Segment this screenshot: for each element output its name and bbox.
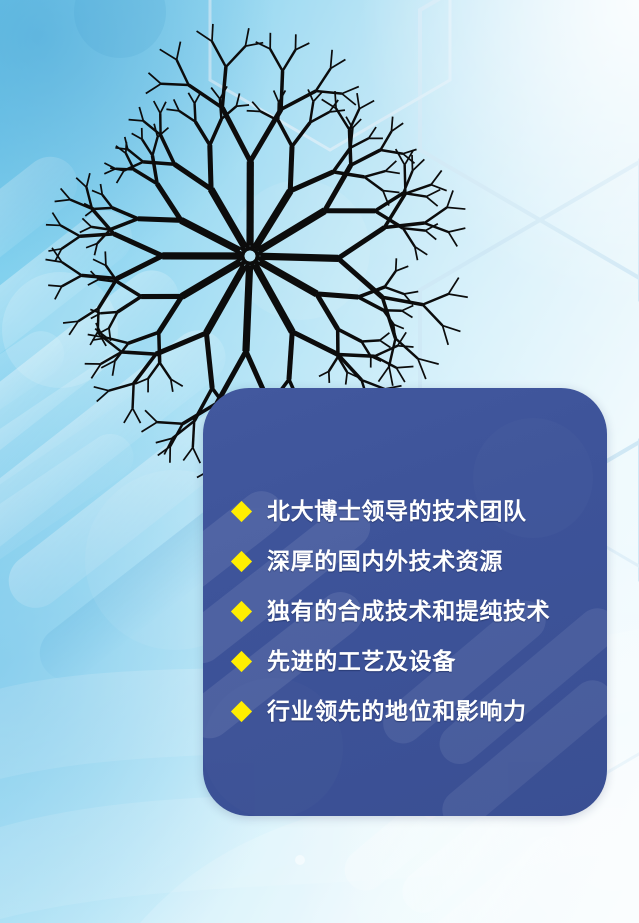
list-item: 独有的合成技术和提纯技术	[203, 586, 607, 636]
highlight-label: 北大博士领导的技术团队	[267, 500, 527, 523]
highlights-list: 北大博士领导的技术团队 深厚的国内外技术资源 独有的合成技术和提纯技术 先进的工…	[203, 388, 607, 736]
highlights-panel: 北大博士领导的技术团队 深厚的国内外技术资源 独有的合成技术和提纯技术 先进的工…	[203, 388, 607, 816]
list-item: 行业领先的地位和影响力	[203, 686, 607, 736]
highlight-label: 先进的工艺及设备	[267, 650, 456, 673]
poster-canvas: 北大博士领导的技术团队 深厚的国内外技术资源 独有的合成技术和提纯技术 先进的工…	[0, 0, 639, 923]
diamond-bullet-icon	[231, 551, 252, 572]
list-item: 先进的工艺及设备	[203, 636, 607, 686]
highlight-label: 深厚的国内外技术资源	[267, 550, 503, 573]
list-item: 北大博士领导的技术团队	[203, 486, 607, 536]
highlight-label: 独有的合成技术和提纯技术	[267, 600, 550, 623]
highlight-label: 行业领先的地位和影响力	[267, 700, 527, 723]
diamond-bullet-icon	[231, 601, 252, 622]
diamond-bullet-icon	[231, 651, 252, 672]
diamond-bullet-icon	[231, 701, 252, 722]
list-item: 深厚的国内外技术资源	[203, 536, 607, 586]
diamond-bullet-icon	[231, 501, 252, 522]
